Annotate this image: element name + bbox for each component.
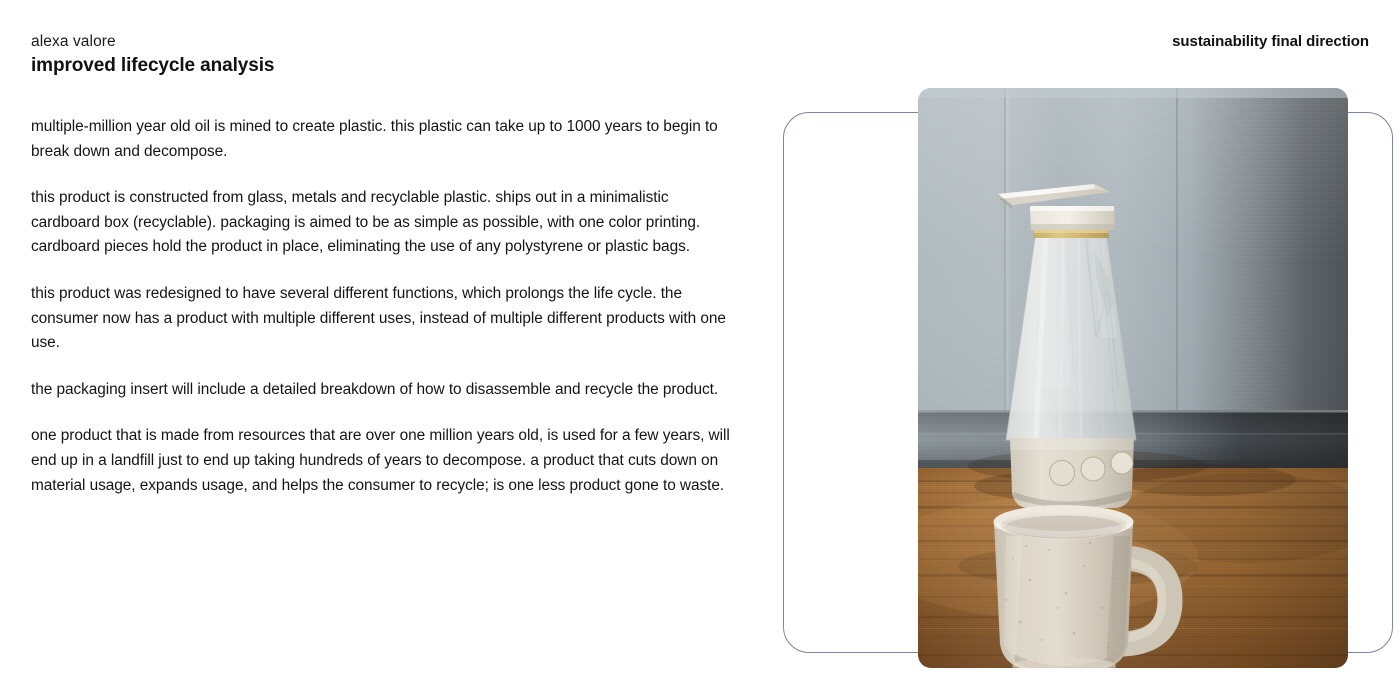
paragraph: multiple-million year old oil is mined t… — [31, 115, 733, 164]
page-title: improved lifecycle analysis — [31, 55, 274, 78]
author-byline: alexa valore — [31, 33, 116, 52]
section-label: sustainability final direction — [1172, 33, 1369, 51]
paragraph: the packaging insert will include a deta… — [31, 378, 733, 403]
paragraph: this product is constructed from glass, … — [31, 186, 733, 260]
paragraph: one product that is made from resources … — [31, 424, 733, 498]
body-text-column: multiple-million year old oil is mined t… — [31, 115, 733, 498]
product-photo — [918, 88, 1348, 668]
paragraph: this product was redesigned to have seve… — [31, 282, 733, 356]
slide-canvas: alexa valore improved lifecycle analysis… — [0, 0, 1400, 700]
product-photo-illustration — [918, 88, 1348, 668]
